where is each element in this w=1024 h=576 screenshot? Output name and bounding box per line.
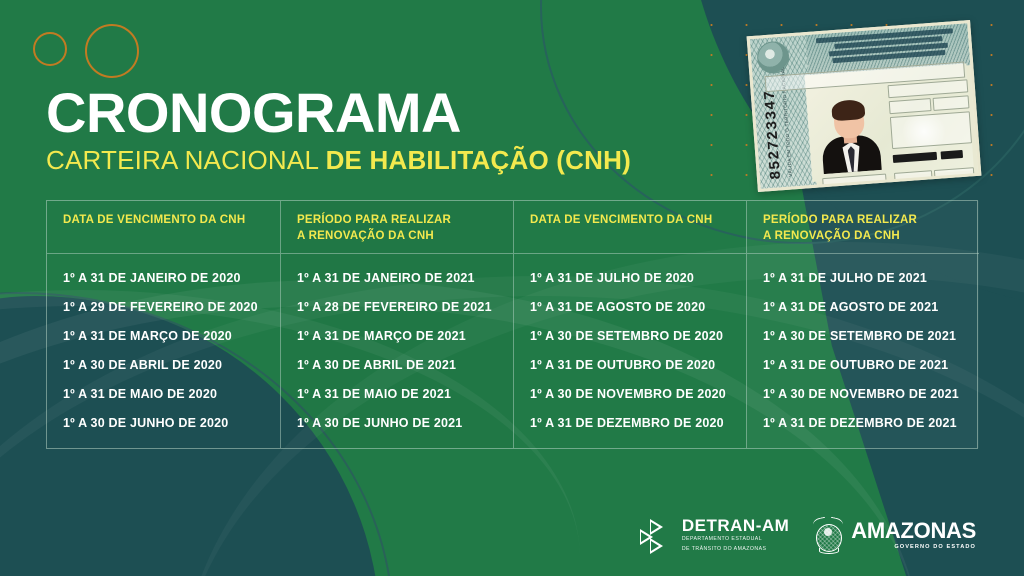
detran-logo: DETRAN-AM DEPARTAMENTO ESTADUAL DE TRÂNS… bbox=[640, 517, 789, 554]
table-cell: 1º A 30 DE NOVEMBRO DE 2021 bbox=[763, 380, 979, 409]
table-column-1: DATA DE VENCIMENTO DA CNH 1º A 31 DE JAN… bbox=[47, 201, 280, 448]
poster-canvas: CRONOGRAMA CARTEIRA NACIONAL DE HABILITA… bbox=[0, 0, 1024, 576]
footer-logos: DETRAN-AM DEPARTAMENTO ESTADUAL DE TRÂNS… bbox=[640, 517, 976, 554]
cnh-card-image: 852723347 VÁLIDA EM TODO O TERRITÓRIO NA… bbox=[747, 20, 982, 192]
table-cell: 1º A 31 DE JANEIRO DE 2021 bbox=[297, 264, 513, 293]
page-subtitle: CARTEIRA NACIONAL DE HABILITAÇÃO (CNH) bbox=[46, 147, 631, 173]
portrait-hair bbox=[831, 99, 865, 121]
table-cell: 1º A 29 DE FEVEREIRO DE 2020 bbox=[63, 293, 280, 322]
table-cell: 1º A 30 DE ABRIL DE 2020 bbox=[63, 351, 280, 380]
table-cell: 1º A 30 DE JUNHO DE 2020 bbox=[63, 409, 280, 438]
detran-subtitle-line1: DEPARTAMENTO ESTADUAL bbox=[682, 536, 789, 544]
amazonas-text-block: AMAZONAS GOVERNO DO ESTADO bbox=[851, 520, 976, 551]
detran-title: DETRAN-AM bbox=[682, 517, 789, 534]
table-column-4: PERÍODO PARA REALIZAR A RENOVAÇÃO DA CNH… bbox=[746, 201, 979, 448]
cnh-redacted-1 bbox=[893, 152, 937, 163]
column-header-2: PERÍODO PARA REALIZAR A RENOVAÇÃO DA CNH bbox=[281, 201, 513, 254]
page-subtitle-bold: DE HABILITAÇÃO (CNH) bbox=[326, 145, 631, 175]
table-cell: 1º A 31 DE MARÇO DE 2021 bbox=[297, 322, 513, 351]
table-column-3: DATA DE VENCIMENTO DA CNH 1º A 31 DE JUL… bbox=[513, 201, 746, 448]
column-cells-1: 1º A 31 DE JANEIRO DE 2020 1º A 29 DE FE… bbox=[47, 254, 280, 438]
table-cell: 1º A 31 DE MAIO DE 2020 bbox=[63, 380, 280, 409]
cnh-field-4 bbox=[890, 111, 972, 149]
amazonas-title: AMAZONAS bbox=[851, 520, 976, 542]
table-cell: 1º A 31 DE JANEIRO DE 2020 bbox=[63, 264, 280, 293]
table-cell: 1º A 30 DE SETEMBRO DE 2021 bbox=[763, 322, 979, 351]
page-subtitle-light: CARTEIRA NACIONAL bbox=[46, 145, 326, 175]
table-cell: 1º A 31 DE OUTUBRO DE 2021 bbox=[763, 351, 979, 380]
table-cell: 1º A 31 DE AGOSTO DE 2021 bbox=[763, 293, 979, 322]
column-header-1: DATA DE VENCIMENTO DA CNH bbox=[47, 201, 280, 254]
header-block: CRONOGRAMA CARTEIRA NACIONAL DE HABILITA… bbox=[46, 86, 631, 173]
footer: DETRAN-AM DEPARTAMENTO ESTADUAL DE TRÂNS… bbox=[0, 498, 1024, 554]
page-title: CRONOGRAMA bbox=[46, 86, 631, 141]
table-cell: 1º A 31 DE JULHO DE 2020 bbox=[530, 264, 746, 293]
table-cell: 1º A 30 DE SETEMBRO DE 2020 bbox=[530, 322, 746, 351]
column-cells-4: 1º A 31 DE JULHO DE 2021 1º A 31 DE AGOS… bbox=[747, 254, 979, 438]
table-cell: 1º A 30 DE ABRIL DE 2021 bbox=[297, 351, 513, 380]
detran-text-block: DETRAN-AM DEPARTAMENTO ESTADUAL DE TRÂNS… bbox=[682, 517, 789, 554]
table-column-2: PERÍODO PARA REALIZAR A RENOVAÇÃO DA CNH… bbox=[280, 201, 513, 448]
schedule-table: DATA DE VENCIMENTO DA CNH 1º A 31 DE JAN… bbox=[46, 200, 978, 449]
table-cell: 1º A 31 DE MARÇO DE 2020 bbox=[63, 322, 280, 351]
column-cells-3: 1º A 31 DE JULHO DE 2020 1º A 31 DE AGOS… bbox=[514, 254, 746, 438]
table-cell: 1º A 31 DE DEZEMBRO DE 2020 bbox=[530, 409, 746, 438]
table-cell: 1º A 31 DE AGOSTO DE 2020 bbox=[530, 293, 746, 322]
table-cell: 1º A 31 DE MAIO DE 2021 bbox=[297, 380, 513, 409]
table-cell: 1º A 31 DE DEZEMBRO DE 2021 bbox=[763, 409, 979, 438]
amazonas-subtitle: GOVERNO DO ESTADO bbox=[851, 545, 976, 551]
column-header-3: DATA DE VENCIMENTO DA CNH bbox=[514, 201, 746, 254]
detran-subtitle-line2: DE TRÂNSITO DO AMAZONAS bbox=[682, 546, 789, 554]
cnh-header-text-lines bbox=[816, 28, 964, 65]
circle-small-icon bbox=[33, 32, 67, 66]
detran-arrows-icon bbox=[640, 519, 676, 553]
circle-large-icon bbox=[85, 24, 139, 78]
cnh-portrait-photo bbox=[816, 86, 884, 174]
table-cell: 1º A 31 DE OUTUBRO DE 2020 bbox=[530, 351, 746, 380]
cnh-field-3 bbox=[933, 95, 970, 111]
table-cell: 1º A 30 DE NOVEMBRO DE 2020 bbox=[530, 380, 746, 409]
table-cell: 1º A 31 DE JULHO DE 2021 bbox=[763, 264, 979, 293]
table-cell: 1º A 30 DE JUNHO DE 2021 bbox=[297, 409, 513, 438]
column-header-4: PERÍODO PARA REALIZAR A RENOVAÇÃO DA CNH bbox=[747, 201, 979, 254]
column-cells-2: 1º A 31 DE JANEIRO DE 2021 1º A 28 DE FE… bbox=[281, 254, 513, 438]
amazonas-logo: AMAZONAS GOVERNO DO ESTADO bbox=[813, 518, 976, 554]
amazonas-coat-of-arms-icon bbox=[813, 518, 843, 554]
cnh-card-body bbox=[805, 63, 974, 182]
table-cell: 1º A 28 DE FEVEREIRO DE 2021 bbox=[297, 293, 513, 322]
cnh-redacted-2 bbox=[941, 150, 964, 160]
